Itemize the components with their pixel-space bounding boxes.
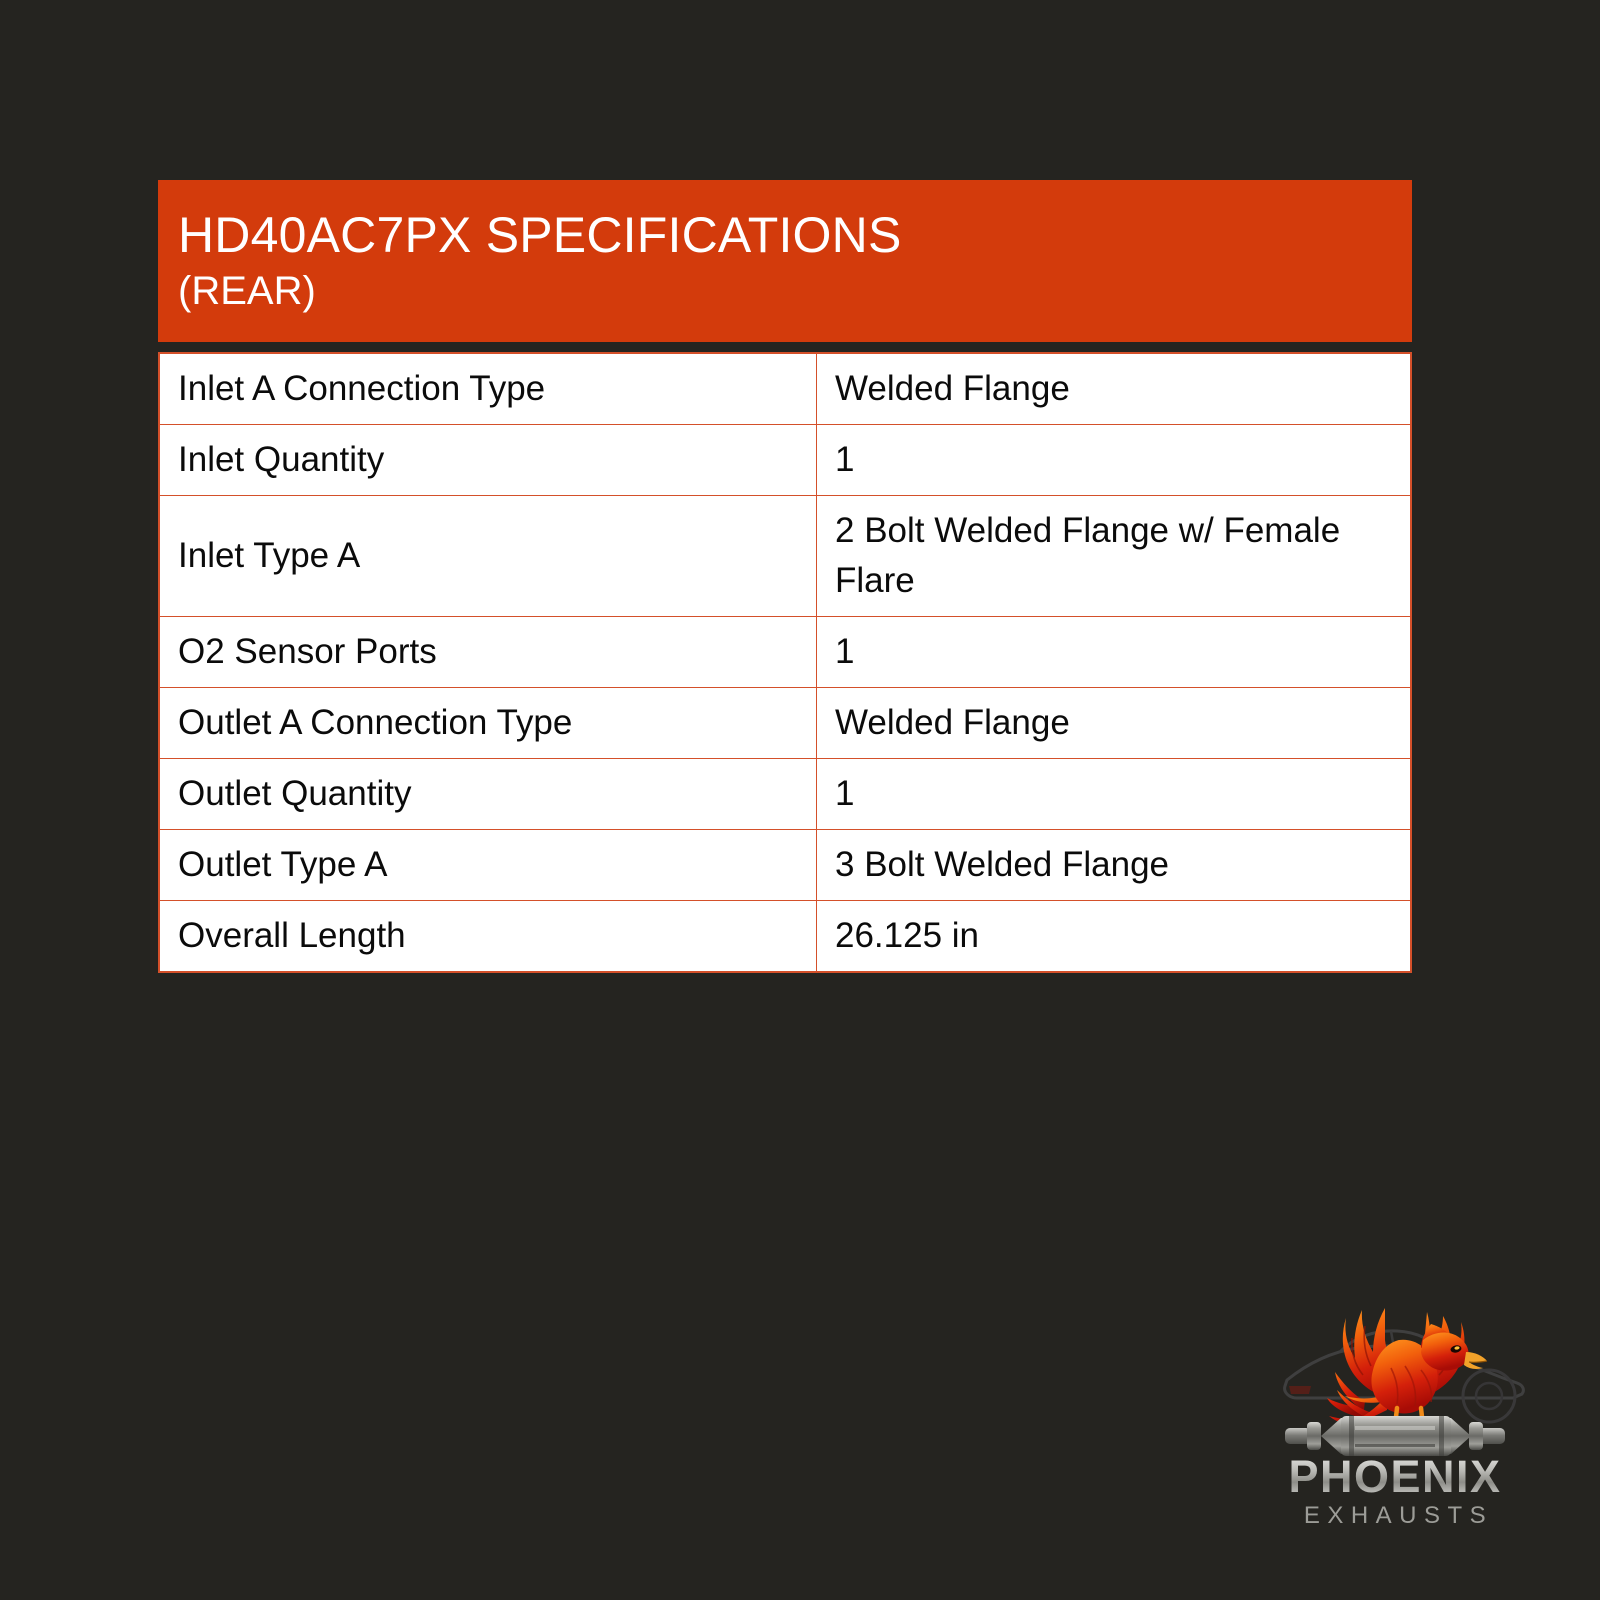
- spec-label: Inlet Type A: [159, 496, 817, 617]
- table-row: Outlet A Connection Type Welded Flange: [159, 688, 1411, 759]
- spec-value: 1: [817, 425, 1412, 496]
- table-row: Inlet Type A 2 Bolt Welded Flange w/ Fem…: [159, 496, 1411, 617]
- table-row: Inlet Quantity 1: [159, 425, 1411, 496]
- table-row: Outlet Type A 3 Bolt Welded Flange: [159, 830, 1411, 901]
- spec-value: Welded Flange: [817, 353, 1412, 425]
- spec-header-title: HD40AC7PX SPECIFICATIONS: [178, 210, 1392, 260]
- table-row: Overall Length 26.125 in: [159, 901, 1411, 973]
- spec-label: O2 Sensor Ports: [159, 617, 817, 688]
- specifications-table: Inlet A Connection Type Welded Flange In…: [158, 352, 1412, 973]
- spec-header-subtitle: (REAR): [178, 266, 1392, 316]
- spec-label: Overall Length: [159, 901, 817, 973]
- table-row: Outlet Quantity 1: [159, 759, 1411, 830]
- header-table-gap: [158, 342, 1412, 352]
- spec-value: 1: [817, 759, 1412, 830]
- phoenix-bird-icon: [1327, 1308, 1487, 1434]
- spec-value: 2 Bolt Welded Flange w/ Female Flare: [817, 496, 1412, 617]
- spec-value: 3 Bolt Welded Flange: [817, 830, 1412, 901]
- logo-name-phoenix: PHOENIX: [1245, 1453, 1545, 1500]
- phoenix-exhausts-logo: PHOENIX EXHAUSTS: [1245, 1268, 1545, 1540]
- table-row: Inlet A Connection Type Welded Flange: [159, 353, 1411, 425]
- logo-wordmark: PHOENIX EXHAUSTS: [1245, 1453, 1545, 1531]
- spec-header: HD40AC7PX SPECIFICATIONS (REAR): [158, 180, 1412, 342]
- muffler-icon: [1285, 1416, 1505, 1456]
- spec-value: 1: [817, 617, 1412, 688]
- spec-label: Outlet Quantity: [159, 759, 817, 830]
- specifications-card: HD40AC7PX SPECIFICATIONS (REAR) Inlet A …: [158, 180, 1412, 973]
- phoenix-logo-icon: [1245, 1268, 1545, 1468]
- spec-label: Inlet Quantity: [159, 425, 817, 496]
- spec-value: Welded Flange: [817, 688, 1412, 759]
- table-row: O2 Sensor Ports 1: [159, 617, 1411, 688]
- logo-name-exhausts: EXHAUSTS: [1245, 1502, 1545, 1531]
- spec-label: Outlet Type A: [159, 830, 817, 901]
- spec-label: Inlet A Connection Type: [159, 353, 817, 425]
- spec-value: 26.125 in: [817, 901, 1412, 973]
- spec-label: Outlet A Connection Type: [159, 688, 817, 759]
